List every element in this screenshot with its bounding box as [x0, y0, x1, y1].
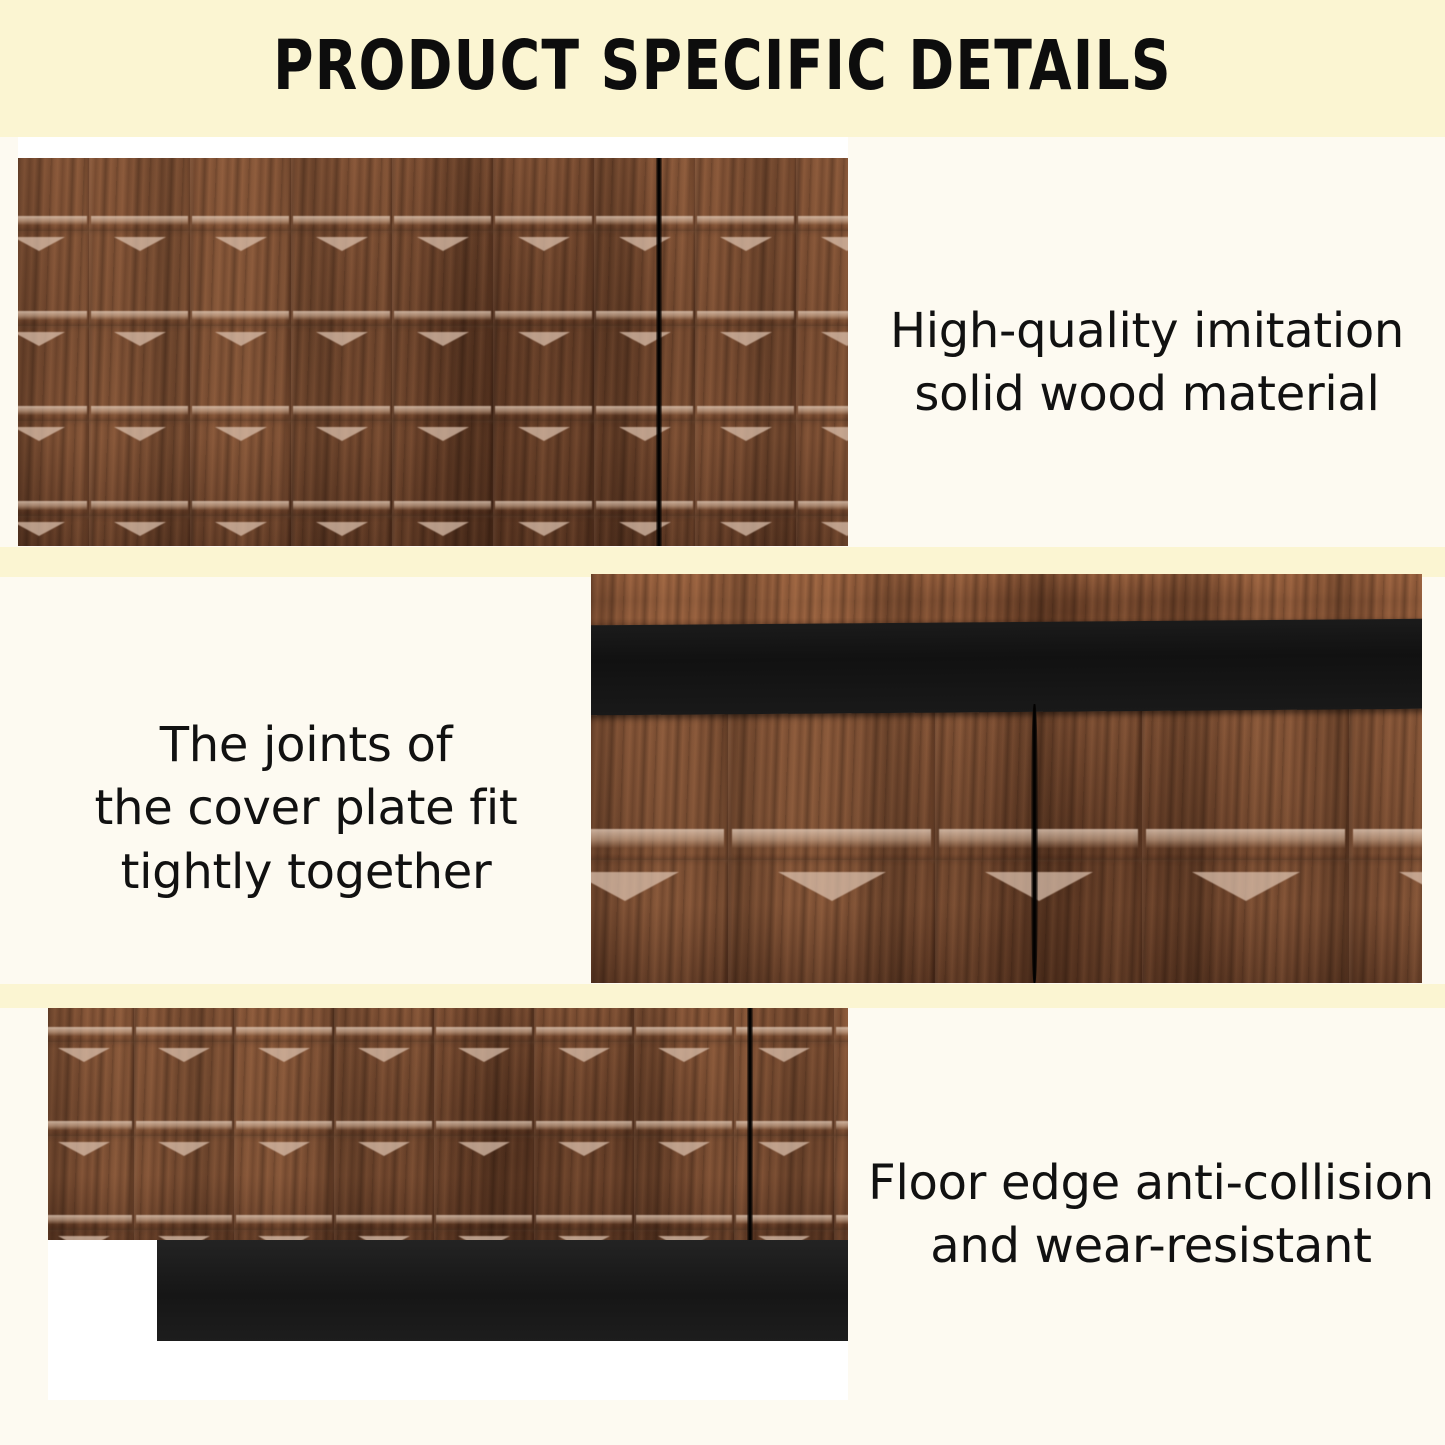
door-seam-line	[656, 158, 662, 546]
caption-floor-edge: Floor edge anti-collision and wear-resis…	[860, 1152, 1442, 1279]
section-1-image	[18, 158, 848, 546]
divider-band-1	[0, 547, 1445, 577]
cover-plate-joint-seam	[1031, 704, 1038, 983]
page-title: PRODUCT SPECIFIC DETAILS	[145, 0, 1301, 137]
cover-plate-black-edge	[591, 619, 1422, 716]
section-2-image	[591, 574, 1422, 983]
divider-band-2	[0, 984, 1445, 1008]
caption-material: High-quality imitation solid wood materi…	[854, 300, 1440, 427]
anti-collision-plinth	[157, 1240, 848, 1341]
section-3-image	[48, 1008, 848, 1240]
caption-cover-plate: The joints of the cover plate fit tightl…	[30, 714, 582, 904]
wood-texture	[18, 158, 848, 546]
wood-texture	[48, 1008, 848, 1240]
section-1-image-top-margin	[18, 137, 848, 158]
door-seam-line	[747, 1008, 753, 1240]
product-detail-infographic: PRODUCT SPECIFIC DETAILS High-quality im…	[0, 0, 1445, 1445]
wood-texture-lower	[591, 704, 1422, 983]
